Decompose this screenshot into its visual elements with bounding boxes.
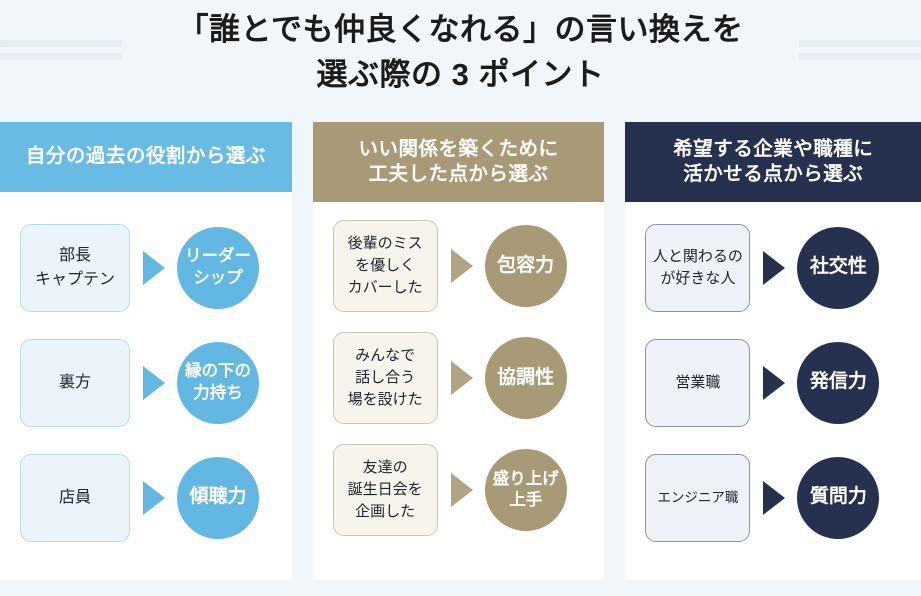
mapping-row: 裏方 縁の下の 力持ち — [0, 325, 292, 440]
result-circle: 質問力 — [797, 457, 879, 539]
column-target-industry: 希望する企業や職種に 活かせる点から選ぶ 人と関わるの が好きな人 社交性 営業… — [625, 122, 921, 580]
title-area: 「誰とでも仲良くなれる」の言い換えを 選ぶ際の 3 ポイント — [0, 0, 921, 122]
result-circle: 協調性 — [485, 337, 567, 419]
column-header-relationship-effort: いい関係を築くために 工夫した点から選ぶ — [313, 122, 605, 202]
mapping-row: 友達の 誕生日会を 企画した 盛り上げ 上手 — [313, 434, 605, 546]
source-box: 後輩のミス を優しく カバーした — [333, 220, 438, 312]
columns-container: 自分の過去の役割から選ぶ 部長 キャプテン リーダー シップ 裏方 縁の下の 力… — [0, 122, 921, 596]
mapping-row: エンジニア職 質問力 — [625, 440, 921, 555]
arrow-right-icon — [139, 361, 169, 405]
mapping-row: 営業職 発信力 — [625, 325, 921, 440]
arrow-right-icon — [759, 246, 789, 290]
arrow-right-icon — [447, 244, 477, 288]
source-box: 人と関わるの が好きな人 — [645, 224, 750, 312]
column-rows-target-industry: 人と関わるの が好きな人 社交性 営業職 発信力 エンジニア職 質問力 — [625, 202, 921, 580]
page-title: 「誰とでも仲良くなれる」の言い換えを 選ぶ際の 3 ポイント — [0, 8, 921, 98]
column-rows-past-role: 部長 キャプテン リーダー シップ 裏方 縁の下の 力持ち 店員 傾聴力 — [0, 192, 292, 580]
column-relationship-effort: いい関係を築くために 工夫した点から選ぶ 後輩のミス を優しく カバーした 包容… — [313, 122, 605, 580]
source-box: 店員 — [20, 454, 130, 542]
result-circle: 傾聴力 — [177, 457, 259, 539]
result-circle: リーダー シップ — [177, 227, 259, 309]
column-header-target-industry: 希望する企業や職種に 活かせる点から選ぶ — [625, 122, 921, 202]
source-box: 営業職 — [645, 339, 750, 427]
result-circle: 発信力 — [797, 342, 879, 424]
source-box: 部長 キャプテン — [20, 224, 130, 312]
result-circle: 盛り上げ 上手 — [485, 449, 567, 531]
mapping-row: みんなで 話し合う 場を設けた 協調性 — [313, 322, 605, 434]
result-circle: 縁の下の 力持ち — [177, 342, 259, 424]
column-past-role: 自分の過去の役割から選ぶ 部長 キャプテン リーダー シップ 裏方 縁の下の 力… — [0, 122, 292, 580]
mapping-row: 店員 傾聴力 — [0, 440, 292, 555]
arrow-right-icon — [447, 356, 477, 400]
mapping-row: 人と関わるの が好きな人 社交性 — [625, 210, 921, 325]
mapping-row: 部長 キャプテン リーダー シップ — [0, 210, 292, 325]
result-circle: 社交性 — [797, 227, 879, 309]
column-header-past-role: 自分の過去の役割から選ぶ — [0, 122, 292, 192]
arrow-right-icon — [139, 246, 169, 290]
mapping-row: 後輩のミス を優しく カバーした 包容力 — [313, 210, 605, 322]
arrow-right-icon — [759, 476, 789, 520]
arrow-right-icon — [139, 476, 169, 520]
column-rows-relationship-effort: 後輩のミス を優しく カバーした 包容力 みんなで 話し合う 場を設けた 協調性… — [313, 202, 605, 580]
source-box: エンジニア職 — [645, 454, 750, 542]
source-box: 友達の 誕生日会を 企画した — [333, 444, 438, 536]
arrow-right-icon — [447, 468, 477, 512]
result-circle: 包容力 — [485, 225, 567, 307]
source-box: 裏方 — [20, 339, 130, 427]
source-box: みんなで 話し合う 場を設けた — [333, 332, 438, 424]
arrow-right-icon — [759, 361, 789, 405]
